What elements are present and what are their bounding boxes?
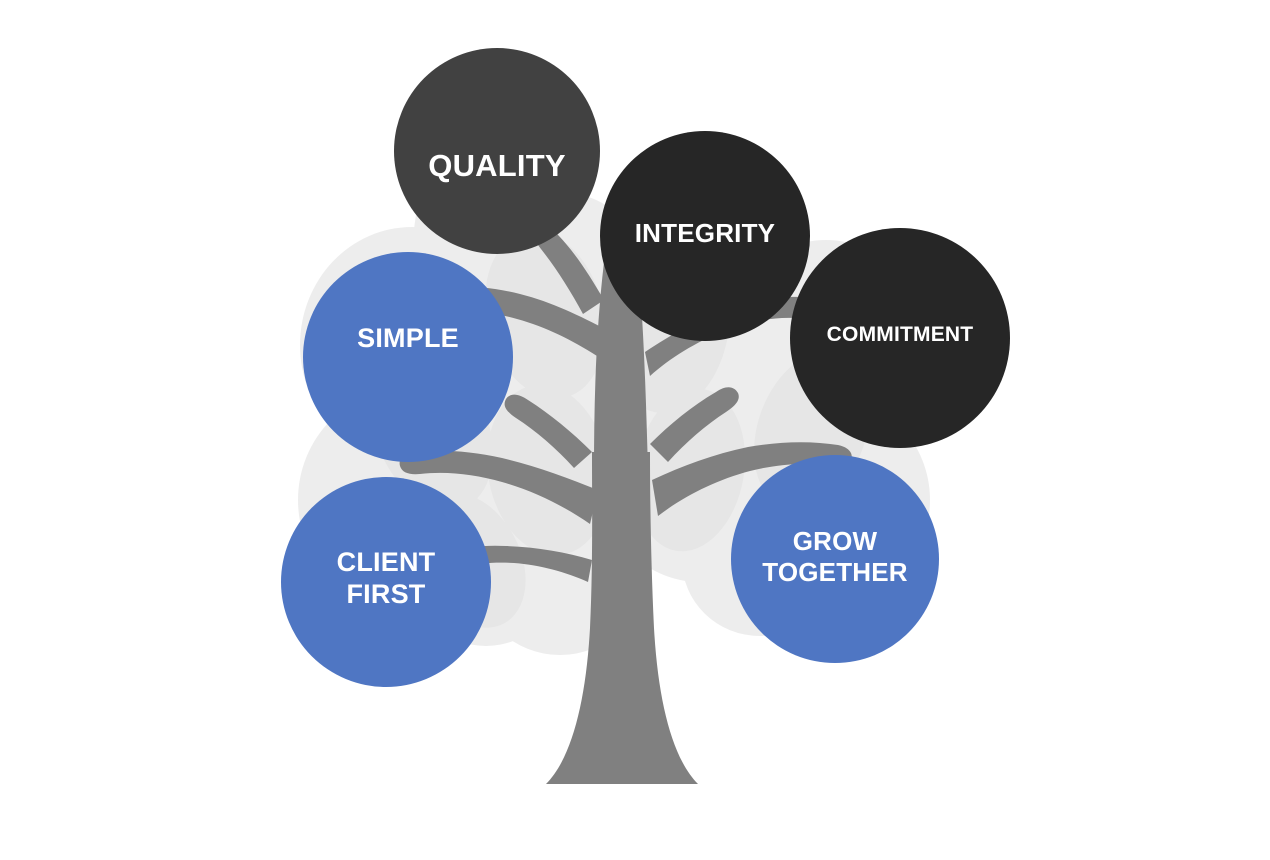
value-bubble-commitment[interactable]: COMMITMENT	[790, 228, 1010, 448]
value-bubble-grow-together[interactable]: GROW TOGETHER	[731, 455, 939, 663]
value-label-grow-together: GROW TOGETHER	[754, 526, 916, 587]
tree-illustration	[0, 0, 1270, 860]
value-bubble-quality[interactable]: QUALITY	[394, 48, 600, 254]
value-label-commitment: COMMITMENT	[819, 323, 982, 348]
value-bubble-client-first[interactable]: CLIENT FIRST	[281, 477, 491, 687]
value-bubble-simple[interactable]: SIMPLE	[303, 252, 513, 462]
value-label-quality: QUALITY	[420, 148, 573, 185]
value-label-simple: SIMPLE	[349, 323, 467, 355]
values-tree-diagram: QUALITY INTEGRITY COMMITMENT SIMPLE CLIE…	[0, 0, 1270, 860]
value-label-integrity: INTEGRITY	[627, 218, 783, 249]
value-bubble-integrity[interactable]: INTEGRITY	[600, 131, 810, 341]
value-label-client-first: CLIENT FIRST	[329, 547, 444, 611]
